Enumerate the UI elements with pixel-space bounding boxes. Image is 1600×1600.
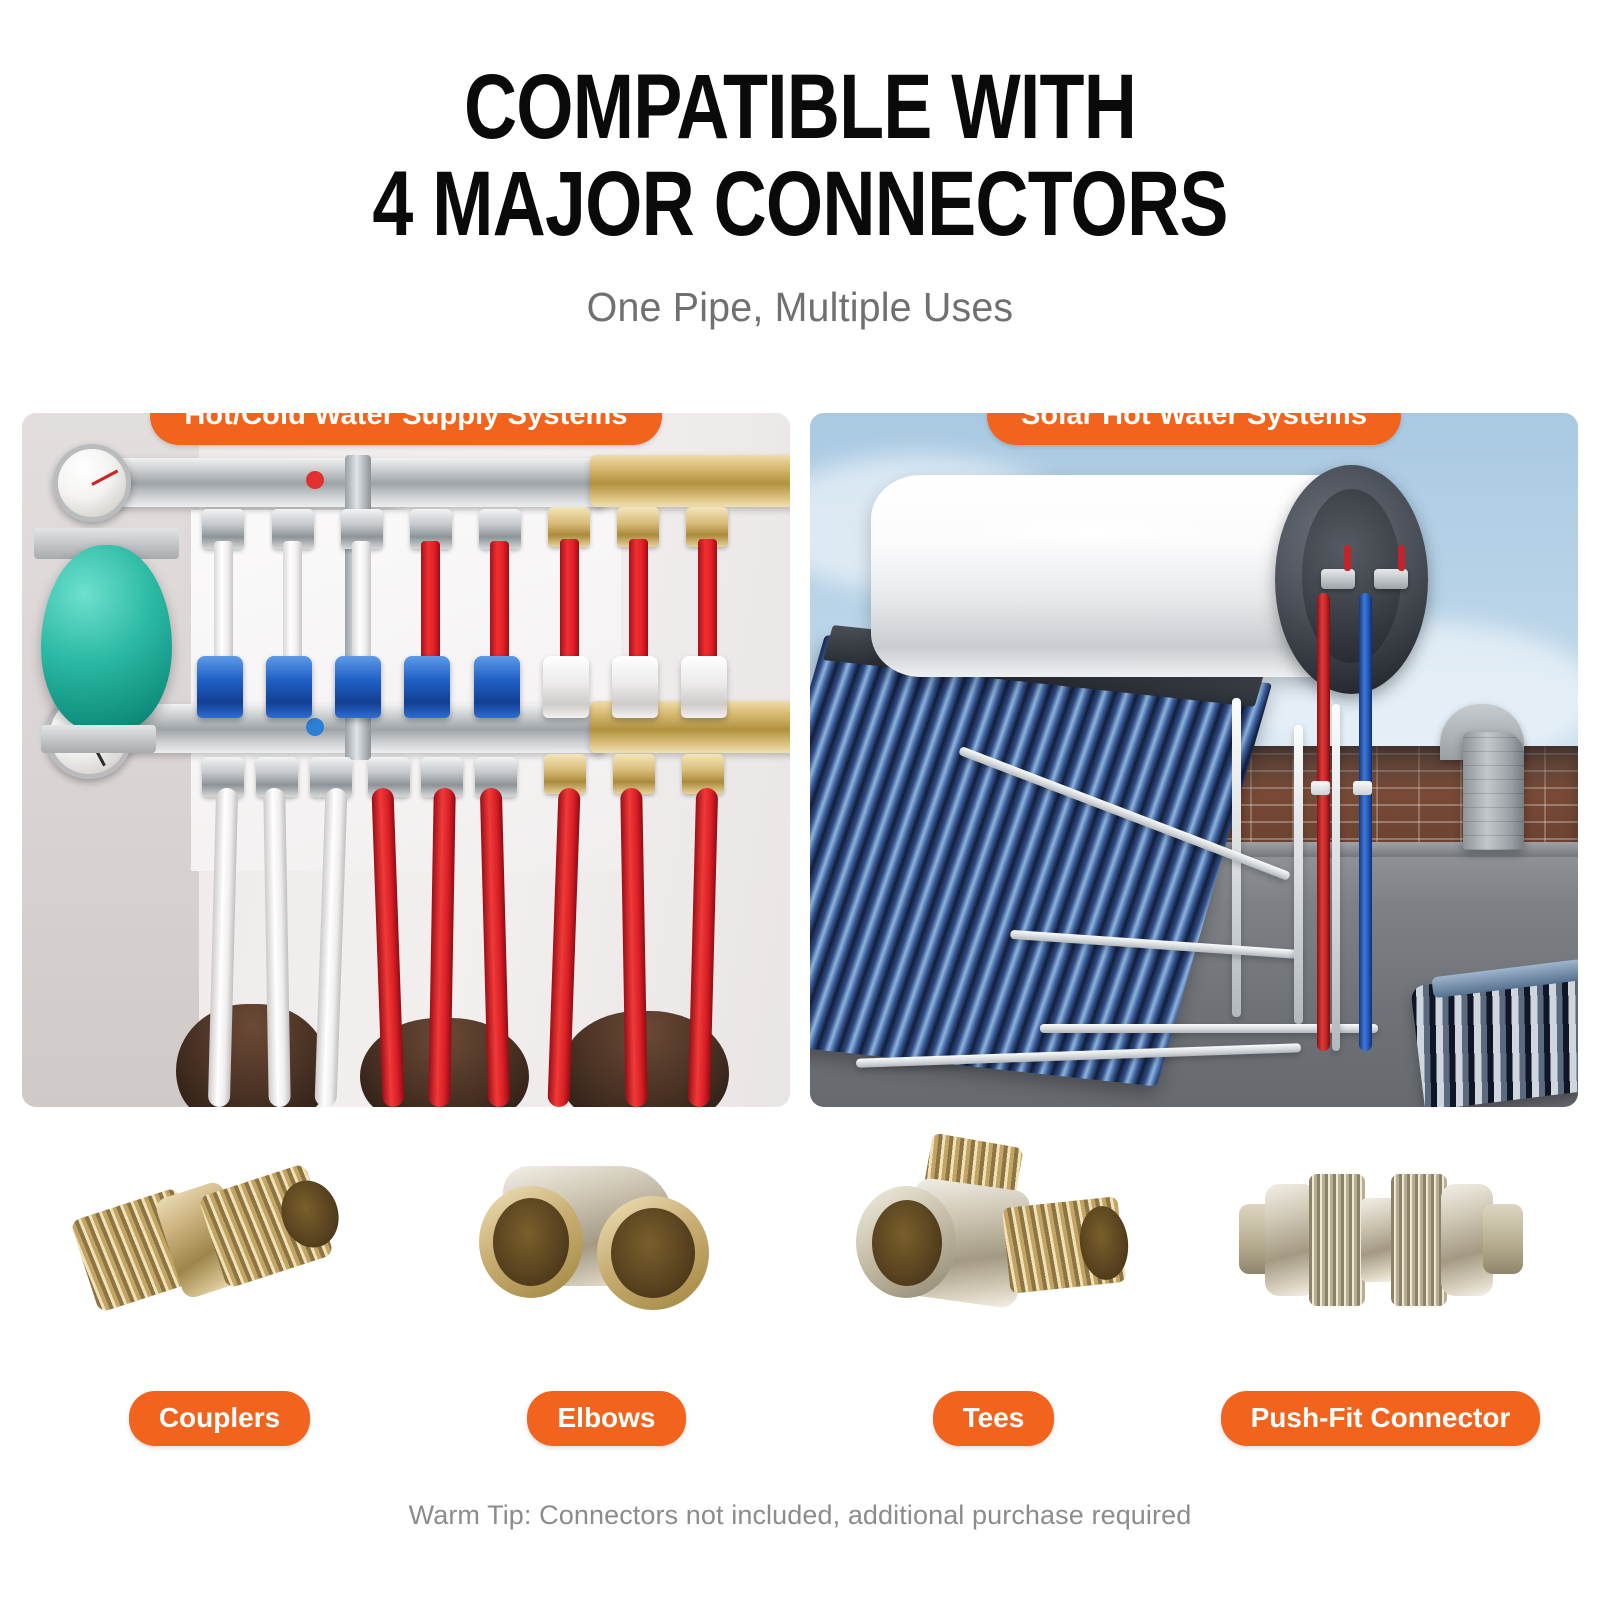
scene-row: Hot/Cold Water Supply Systems	[0, 413, 1600, 1113]
circulation-pump	[41, 545, 172, 732]
valve-cap-white	[543, 656, 589, 718]
valve-cap-white	[681, 656, 727, 718]
solar-water-heater-image	[810, 413, 1578, 1107]
badge-hot-cold-water-supply[interactable]: Hot/Cold Water Supply Systems	[150, 413, 661, 445]
valve-handle-red	[1344, 545, 1351, 571]
push-fit-knurled-nut-left	[1309, 1174, 1365, 1306]
connector-item-push-fit: Push-Fit Connector	[1187, 1136, 1574, 1456]
valve-cap-white	[612, 656, 658, 718]
pipe-clamp	[1311, 781, 1330, 795]
pump-outlet-flange	[41, 725, 156, 753]
header: COMPATIBLE WITH 4 MAJOR CONNECTORS One P…	[0, 0, 1600, 331]
page-subtitle: One Pipe, Multiple Uses	[32, 284, 1568, 331]
valve-cap-blue	[197, 656, 243, 718]
valve-cap-blue	[266, 656, 312, 718]
connector-label-elbows[interactable]: Elbows	[527, 1391, 685, 1446]
page-title-line2: 4 MAJOR CONNECTORS	[160, 159, 1440, 250]
infographic-page: COMPATIBLE WITH 4 MAJOR CONNECTORS One P…	[0, 0, 1600, 1600]
push-fit-end-right	[1483, 1204, 1523, 1274]
pipe-red-riser	[1317, 593, 1330, 1051]
tank-highlight	[932, 520, 1246, 540]
push-fit-center-band	[1361, 1198, 1395, 1282]
scene-hot-cold-water-supply: Hot/Cold Water Supply Systems	[22, 413, 790, 1107]
pressure-gauge-top	[53, 444, 131, 522]
cold-indicator-dot	[306, 718, 324, 736]
valve-cap-blue	[474, 656, 520, 718]
brass-manifold-top	[590, 455, 790, 507]
connector-label-tees[interactable]: Tees	[933, 1391, 1055, 1446]
frame-post	[1294, 725, 1303, 1023]
connector-label-push-fit[interactable]: Push-Fit Connector	[1221, 1391, 1541, 1446]
page-title-line1: COMPATIBLE WITH	[160, 62, 1440, 153]
pipe-blue-riser	[1359, 593, 1372, 1051]
connector-item-tees: Tees	[800, 1136, 1187, 1456]
warm-tip-text: Warm Tip: Connectors not included, addit…	[0, 1500, 1600, 1531]
valve-cap-blue	[404, 656, 450, 718]
push-fit-knurled-nut-right	[1391, 1174, 1447, 1306]
elbow-icon	[447, 1136, 767, 1360]
coupler-icon	[60, 1136, 380, 1360]
duct-pipe	[1463, 732, 1524, 850]
tee-icon	[834, 1136, 1154, 1360]
valve-cap-blue	[335, 656, 381, 718]
tank-valve-hot	[1321, 569, 1355, 589]
push-fit-icon	[1221, 1136, 1541, 1360]
elbow-bore-right	[611, 1208, 695, 1298]
pipe-support-post	[1332, 704, 1340, 1051]
badge-solar-hot-water[interactable]: Solar Hot Water Systems	[987, 413, 1401, 445]
connector-item-couplers: Couplers	[26, 1136, 413, 1456]
plumbing-manifold-image	[22, 413, 790, 1107]
tank-valve-cold	[1374, 569, 1408, 589]
connector-item-elbows: Elbows	[413, 1136, 800, 1456]
scene-solar-hot-water: Solar Hot Water Systems	[810, 413, 1578, 1107]
connector-label-couplers[interactable]: Couplers	[129, 1391, 310, 1446]
elbow-bore-left	[493, 1198, 569, 1286]
wall-penetration	[176, 1004, 330, 1107]
connector-row: Couplers Elbows Tees	[0, 1136, 1600, 1456]
tee-bore-left	[872, 1200, 942, 1286]
valve-handle-red	[1398, 545, 1405, 571]
pipe-clamp	[1353, 781, 1372, 795]
